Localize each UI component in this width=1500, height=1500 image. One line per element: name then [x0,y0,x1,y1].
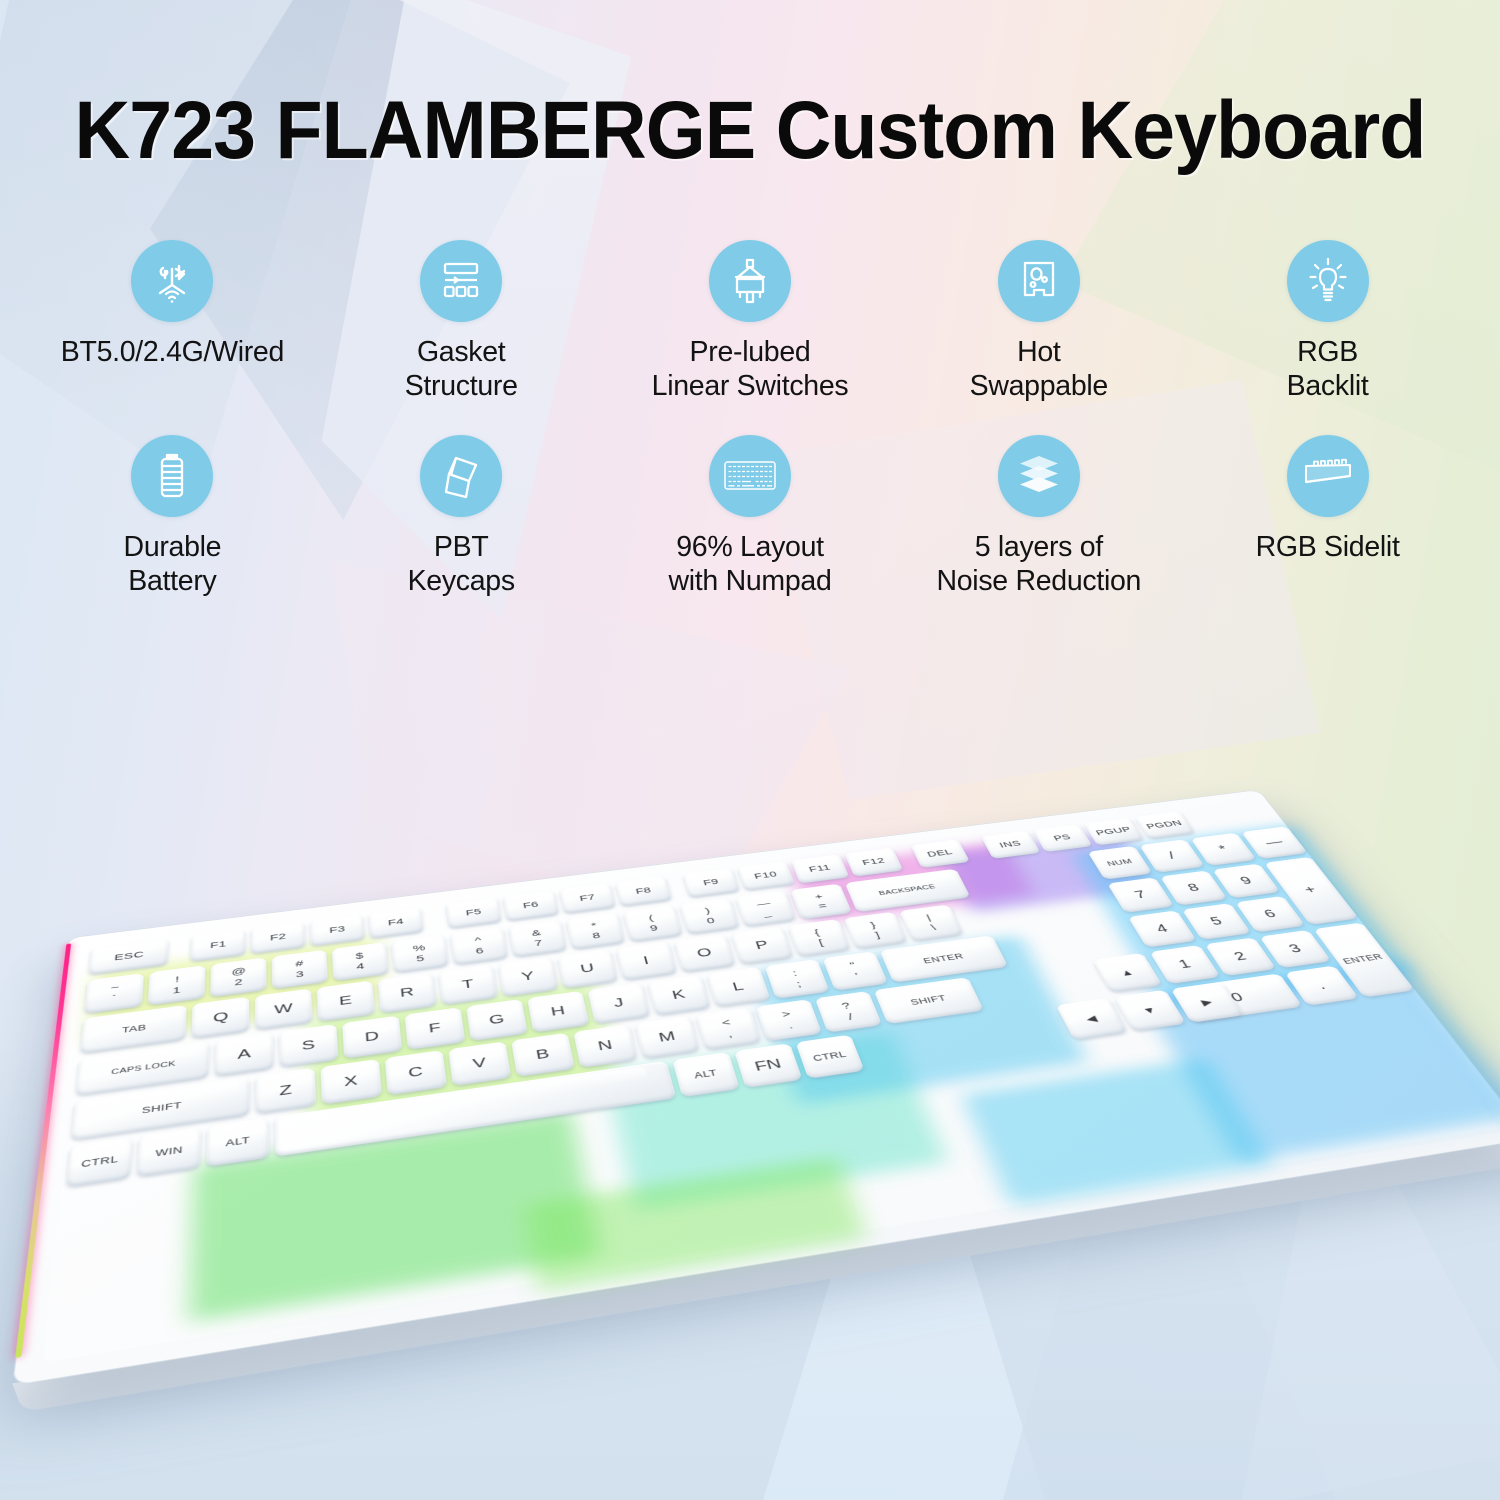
key-f4[interactable]: F4 [368,907,423,939]
key-legend: Q [213,1010,229,1024]
key-legend: 4 [1154,923,1170,935]
key-legend: F [428,1021,441,1035]
key-win[interactable]: WIN [137,1127,201,1177]
key-legend: F12 [861,857,886,867]
key-0[interactable]: )0 [679,898,740,935]
key-legend: V [472,1056,487,1070]
key-j[interactable]: J [587,983,650,1024]
key-legend-top: ) [704,907,711,916]
key-legend-bottom: 5 [416,954,425,964]
key-legend-bottom: 3 [296,969,304,979]
key-k[interactable]: K [647,975,711,1016]
key-legend-top: $ [355,951,363,961]
feature-item-layout: 96% Layout with Numpad [606,435,895,598]
key-d[interactable]: D [342,1016,402,1059]
key-legend: ▶ [1199,997,1214,1007]
key-legend: 5 [1208,915,1224,927]
key-f6[interactable]: F6 [503,890,559,921]
key-legend: F4 [388,918,404,928]
key-legend: ALT [693,1069,718,1080]
feature-label: RGB Sidelit [1256,531,1400,565]
key-legend-top: ! [175,975,179,984]
key-legend-top: : [791,969,798,978]
key-legend: NUM [1106,858,1134,867]
key-f9[interactable]: F9 [682,868,740,898]
key-legend-bottom: , [726,1029,733,1039]
key-legend: ▼ [1141,1005,1158,1015]
key-pgup[interactable]: PGUP [1084,818,1145,846]
key-legend: . [1315,979,1328,991]
key-9[interactable]: (9 [623,905,683,942]
key-legend-top: < [721,1018,732,1029]
key-legend: * [1217,844,1230,854]
key-legend: + [1302,884,1319,895]
key-[interactable]: >. [755,999,822,1041]
battery-icon [131,435,213,517]
key-p[interactable]: P [731,926,794,964]
feature-label: Durable Battery [124,531,222,598]
key-legend: ESC [114,951,144,963]
key-o[interactable]: O [673,934,735,973]
key-legend: F3 [329,925,345,935]
key-legend: FN [753,1057,783,1073]
key-legend: PGDN [1145,820,1184,831]
key-legend: F11 [808,864,832,874]
key-legend-top: | [925,914,932,923]
key-legend: CTRL [812,1050,848,1063]
key-legend-top: " [849,961,857,970]
feature-row-1: BT5.0/2.4G/Wired Gasket Structure [28,240,1472,403]
key-fn[interactable]: FN [734,1043,802,1088]
key-legend-top: } [869,921,877,930]
key-legend: F6 [522,901,539,910]
key-legend: — [1263,837,1286,848]
key-[interactable]: —_ [735,891,796,927]
keycap-icon [420,435,502,517]
key-legend: B [535,1047,550,1061]
key-legend-bottom: . [787,1021,794,1031]
key-legend-top: ( [648,914,655,923]
feature-label: RGB Backlit [1287,336,1369,403]
key-legend: L [731,980,745,993]
feature-label: PBT Keycaps [408,531,515,598]
key-legend-top: — [756,899,772,909]
key-8[interactable]: *8 [566,912,626,949]
key-legend: F7 [579,894,596,903]
feature-item-switches: Pre-lubed Linear Switches [606,240,895,403]
key-alt[interactable]: ALT [672,1052,740,1097]
key-m[interactable]: M [635,1016,700,1059]
lightbulb-icon [1287,240,1369,322]
key-ctrl[interactable]: CTRL [795,1035,864,1079]
key-legend: 1 [1176,958,1193,970]
key-legend: ALT [225,1136,250,1148]
key-legend-bottom: 1 [172,985,181,995]
key-f10[interactable]: F10 [737,861,795,891]
key-legend: DEL [926,849,954,859]
key-legend: U [579,962,595,975]
key-legend: 6 [1262,908,1279,920]
key-legend: PS [1052,834,1072,843]
key-legend: CAPS LOCK [111,1060,176,1075]
key-legend-top: > [781,1009,793,1019]
key-n[interactable]: N [573,1024,638,1068]
key-legend: PGUP [1094,826,1132,837]
key-legend-bottom: 8 [592,931,602,940]
key-legend-top: @ [231,966,246,977]
wireless-bluetooth-wired-icon [131,240,213,322]
key-legend: / [1166,851,1177,861]
key-legend-top: ? [840,1001,851,1011]
key-legend: ◀ [1084,1014,1098,1024]
key-legend: F8 [635,887,652,896]
key-legend-bottom: ' [854,971,860,980]
key-legend-top: { [813,928,821,937]
feature-grid: BT5.0/2.4G/Wired Gasket Structure [28,240,1472,599]
key-legend: Y [521,970,536,983]
key-legend: G [488,1013,505,1027]
key-legend: K [671,988,687,1001]
key-legend-bottom: = [817,902,828,911]
key-legend: E [339,994,353,1007]
key-row-modifier: CTRLWINALTALTFNCTRL [66,1035,865,1188]
key-legend: F2 [270,933,286,943]
feature-item-gasket: Gasket Structure [317,240,606,403]
key-legend: F5 [465,908,481,917]
feature-label: Gasket Structure [405,336,518,403]
keyboard-body: ESCF1F2F3F4F5F6F7F8F9F10F11F12DELINSPSPG… [13,790,1500,1385]
key-legend: INS [998,840,1022,849]
page-title: K723 FLAMBERGE Custom Keyboard [45,84,1455,178]
key-b[interactable]: B [511,1033,575,1077]
key-legend: ▲ [1118,968,1135,978]
key-[interactable]: {[ [787,919,851,957]
feature-item-connectivity: BT5.0/2.4G/Wired [28,240,317,403]
key-legend: C [408,1065,424,1080]
key-legend-bottom: [ [817,938,824,947]
key-ctrl[interactable]: CTRL [66,1137,133,1187]
key-legend: O [696,947,713,960]
key-legend: 8 [1185,882,1201,893]
feature-item-hotswap: Hot Swappable [894,240,1183,403]
feature-label: Pre-lubed Linear Switches [652,336,849,403]
key-6[interactable]: ^6 [450,927,508,965]
switch-icon [709,240,791,322]
key-legend: F1 [210,940,226,950]
key-legend: H [550,1005,566,1019]
hot-swappable-icon [998,240,1080,322]
key-z[interactable]: Z [256,1068,317,1114]
key-legend: 2 [1232,950,1249,962]
key-legend: W [274,1002,293,1016]
feature-item-rgb-backlit: RGB Backlit [1183,240,1472,403]
feature-label: BT5.0/2.4G/Wired [61,336,284,370]
feature-label: 96% Layout with Numpad [668,531,831,598]
key-legend-bottom: \ [930,923,938,932]
key-legend: BACKSPACE [878,884,937,897]
key-[interactable]: }] [843,912,907,949]
key-legend-bottom: 6 [475,946,484,956]
key-legend: M [657,1030,676,1044]
key-i[interactable]: I [615,941,677,980]
key-legend-top: % [412,943,425,953]
feature-item-sidelit: RGB Sidelit [1183,435,1472,598]
feature-item-battery: Durable Battery [28,435,317,598]
key-v[interactable]: V [448,1041,511,1086]
key-w[interactable]: W [255,989,312,1031]
rgb-underglow [604,1031,948,1211]
key-legend-top: * [590,921,597,930]
keyboard-product-photo: ESCF1F2F3F4F5F6F7F8F9F10F11F12DELINSPSPG… [0,690,1500,1410]
key-f7[interactable]: F7 [559,883,616,914]
key-legend: X [344,1074,358,1089]
key-legend: Z [279,1083,292,1098]
key-legend-top: & [531,928,542,938]
key-legend-top: ^ [474,936,482,945]
feature-item-pbt: PBT Keycaps [317,435,606,598]
key-legend: SHIFT [909,994,947,1006]
key-f[interactable]: F [404,1007,465,1050]
key-legend: T [461,978,474,991]
key-legend: ENTER [922,953,965,965]
feature-label: 5 layers of Noise Reduction [936,531,1141,598]
key-legend-bottom: 9 [649,924,659,933]
key-legend: D [364,1030,379,1044]
key-legend-top: ~ [110,983,119,993]
key-legend-bottom: 7 [534,939,543,948]
product-hero-image: K723 FLAMBERGE Custom Keyboard [0,0,1500,1500]
key-legend: P [754,939,770,951]
key-caps-lock[interactable]: CAPS LOCK [76,1041,210,1096]
key-legend-bottom: 4 [356,962,365,972]
layers-icon [998,435,1080,517]
key-legend: F9 [702,878,719,887]
key-u[interactable]: U [557,949,618,988]
key-legend: F10 [753,871,778,881]
key-[interactable]: <, [695,1007,761,1050]
key-legend: ENTER [1341,953,1384,965]
key-legend: SHIFT [142,1101,182,1115]
key-legend-bottom: 0 [706,916,716,925]
sidelit-keyboard-icon [1287,435,1369,517]
keyboard-layout-icon [709,435,791,517]
key-alt[interactable]: ALT [206,1118,269,1167]
key-pgdn[interactable]: PGDN [1134,811,1195,839]
key-7[interactable]: &7 [508,920,567,958]
key-[interactable]: |\ [899,904,964,941]
feature-item-noise: 5 layers of Noise Reduction [894,435,1183,598]
key-legend-bottom: 2 [235,977,243,987]
key-legend: I [642,955,650,967]
key-legend: TAB [122,1024,147,1035]
key-legend-top: + [814,892,825,901]
key-legend: 3 [1286,943,1303,955]
key-legend-bottom: ] [874,931,881,940]
key-legend-bottom: _ [762,909,772,918]
key-q[interactable]: Q [191,997,249,1039]
key-legend-bottom: ; [795,979,802,988]
key-legend: 9 [1238,875,1254,886]
key-f8[interactable]: F8 [615,876,672,906]
key-legend: R [399,986,414,999]
gasket-structure-icon [420,240,502,322]
key-c[interactable]: C [385,1050,447,1095]
feature-label: Hot Swappable [970,336,1108,403]
key-legend: 7 [1133,889,1149,900]
key-legend: J [613,997,625,1010]
key-legend-top: # [295,959,303,969]
key-legend: A [238,1047,252,1061]
key-legend-bottom: ` [111,994,117,1004]
key-legend-bottom: / [847,1012,855,1022]
key-x[interactable]: X [320,1059,381,1105]
key-legend: CTRL [81,1155,119,1169]
feature-row-2: Durable Battery PBT Keycaps [28,435,1472,598]
key-legend: N [597,1039,614,1053]
